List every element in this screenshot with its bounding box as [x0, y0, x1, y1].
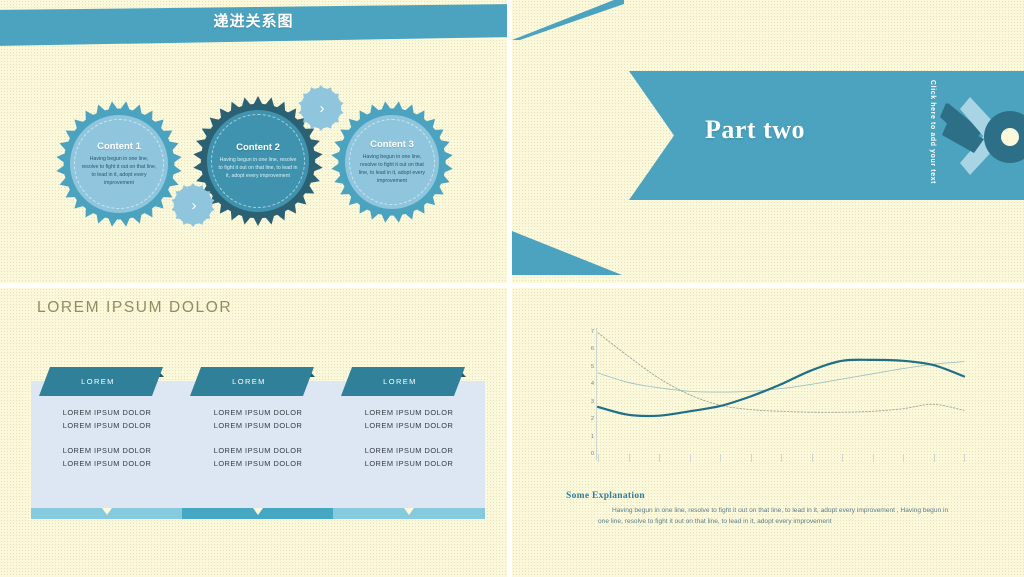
card-3-footer-bar — [333, 508, 485, 519]
chart-y-tick: 7 — [578, 329, 594, 335]
explanation-body: Having begun in one line, resolve to fig… — [598, 506, 960, 527]
badge-content-3[interactable]: Content 3 Having begun in one line, reso… — [331, 101, 453, 223]
chart-y-tick: 0 — [578, 451, 594, 457]
card-1-line-4: LOREM IPSUM DOLOR — [31, 458, 183, 471]
card-3-line-4: LOREM IPSUM DOLOR — [333, 458, 485, 471]
badge-title-3: Content 3 — [370, 139, 414, 150]
arrow-connector-2: › — [298, 85, 344, 131]
chart-line-2 — [598, 362, 964, 393]
medal-center-dot — [1001, 128, 1019, 146]
card-3-line-3: LOREM IPSUM DOLOR — [333, 445, 485, 458]
chart-y-tick: 3 — [578, 399, 594, 405]
chart-y-axis: 76543210 — [578, 328, 594, 460]
card-2-header[interactable]: LOREM — [190, 367, 314, 396]
card-3-spacer — [333, 432, 485, 445]
arrow-connector-1: › — [171, 183, 215, 227]
corner-wedge-top-left — [512, 0, 624, 40]
card-1-body: LOREM IPSUM DOLOR LOREM IPSUM DOLOR LORE… — [31, 381, 183, 509]
chart-y-tick: 5 — [578, 364, 594, 370]
chart-y-tick: 2 — [578, 416, 594, 422]
card-1-header-label: LOREM — [81, 377, 115, 386]
slide-2-part-two[interactable]: Part two Click here to add your text — [512, 0, 1024, 283]
slide-deck: 递进关系图 Content 1 Having begun in one line… — [0, 0, 1024, 577]
badge-inner-1: Content 1 Having begun in one line, reso… — [70, 115, 168, 213]
card-2-line-3: LOREM IPSUM DOLOR — [182, 445, 334, 458]
vertical-placeholder-text[interactable]: Click here to add your text — [929, 80, 936, 192]
card-2-spacer — [182, 432, 334, 445]
card-1-line-3: LOREM IPSUM DOLOR — [31, 445, 183, 458]
chart-y-tick: 6 — [578, 346, 594, 352]
badge-body-3: Having begun in one line, resolve to fig… — [355, 153, 428, 185]
slide1-title: 递进关系图 — [0, 10, 507, 31]
card-3-lines: LOREM IPSUM DOLOR LOREM IPSUM DOLOR LORE… — [333, 407, 485, 471]
card-3-header-label: LOREM — [383, 377, 417, 386]
card-1-spacer — [31, 432, 183, 445]
chart-y-tick: 1 — [578, 434, 594, 440]
card-2-footer-bar — [182, 508, 334, 519]
card-1-lines: LOREM IPSUM DOLOR LOREM IPSUM DOLOR LORE… — [31, 407, 183, 471]
slide3-title: LOREM IPSUM DOLOR — [37, 299, 232, 317]
badge-title-1: Content 1 — [97, 141, 141, 152]
badge-body-2: Having begun in one line, resolve to fig… — [218, 156, 298, 180]
card-1-header[interactable]: LOREM — [39, 367, 163, 396]
card-2-line-2: LOREM IPSUM DOLOR — [182, 420, 334, 433]
chart-line-3 — [598, 333, 964, 412]
card-1-line-1: LOREM IPSUM DOLOR — [31, 407, 183, 420]
chevron-right-icon-b: › — [320, 101, 325, 116]
card-2-header-label: LOREM — [232, 377, 266, 386]
badge-title-2: Content 2 — [236, 142, 280, 153]
card-3-line-2: LOREM IPSUM DOLOR — [333, 420, 485, 433]
card-2-line-1: LOREM IPSUM DOLOR — [182, 407, 334, 420]
badge-inner-2: Content 2 Having begun in one line, reso… — [207, 110, 309, 212]
chevron-right-icon-a: › — [192, 198, 197, 213]
card-1-line-2: LOREM IPSUM DOLOR — [31, 420, 183, 433]
line-chart: 76543210 — [578, 328, 970, 460]
medal-ribbon-decoration — [940, 95, 1024, 179]
badge-content-1[interactable]: Content 1 Having begun in one line, reso… — [56, 101, 182, 227]
slide-1-progressive-relationship[interactable]: 递进关系图 Content 1 Having begun in one line… — [0, 0, 507, 283]
card-3-body: LOREM IPSUM DOLOR LOREM IPSUM DOLOR LORE… — [333, 381, 485, 509]
slide-4-chart[interactable]: 76543210 Some Explanation Having begun i… — [512, 288, 1024, 577]
chart-plot-area — [596, 328, 970, 460]
chart-series-svg — [596, 328, 970, 460]
badge-body-1: Having begun in one line, resolve to fig… — [81, 155, 157, 187]
chart-line-1 — [598, 360, 964, 416]
corner-wedge-bottom-left — [512, 231, 622, 275]
card-3-line-1: LOREM IPSUM DOLOR — [333, 407, 485, 420]
card-3-header[interactable]: LOREM — [341, 367, 465, 396]
card-2[interactable]: LOREM IPSUM DOLOR LOREM IPSUM DOLOR LORE… — [182, 381, 334, 525]
slide2-title: Part two — [705, 115, 805, 145]
badge-inner-3: Content 3 Having begun in one line, reso… — [345, 115, 439, 209]
card-1-footer-bar — [31, 508, 183, 519]
card-1[interactable]: LOREM IPSUM DOLOR LOREM IPSUM DOLOR LORE… — [31, 381, 183, 525]
card-2-body: LOREM IPSUM DOLOR LOREM IPSUM DOLOR LORE… — [182, 381, 334, 509]
card-2-line-4: LOREM IPSUM DOLOR — [182, 458, 334, 471]
card-2-lines: LOREM IPSUM DOLOR LOREM IPSUM DOLOR LORE… — [182, 407, 334, 471]
chart-y-tick: 4 — [578, 381, 594, 387]
explanation-title: Some Explanation — [566, 491, 645, 501]
card-3[interactable]: LOREM IPSUM DOLOR LOREM IPSUM DOLOR LORE… — [333, 381, 485, 525]
